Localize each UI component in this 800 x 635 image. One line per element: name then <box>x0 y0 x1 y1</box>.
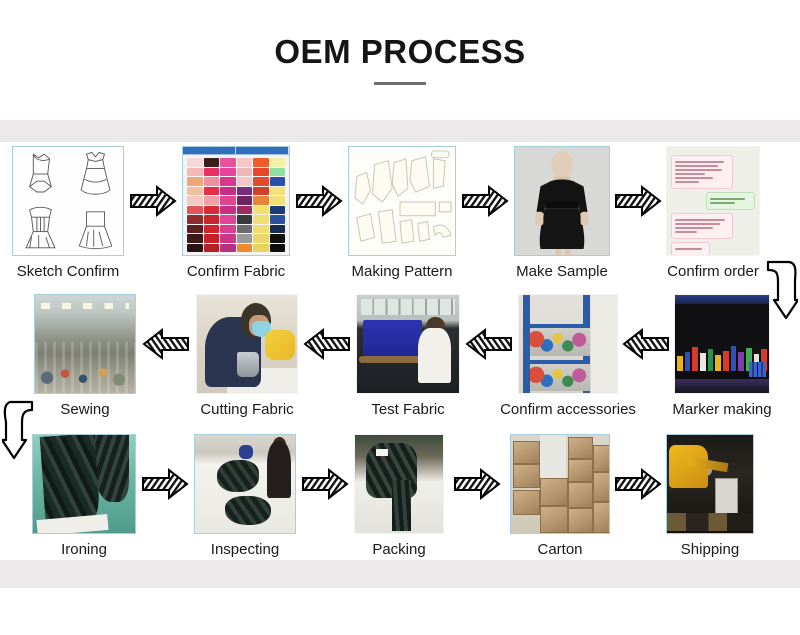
process-step-carton[interactable]: Carton <box>510 434 610 559</box>
fabric-swatch <box>204 206 220 215</box>
step-label: Packing <box>372 542 425 559</box>
make-sample-image <box>514 146 610 256</box>
ironing-photo <box>33 435 135 533</box>
fabric-swatch <box>220 187 236 196</box>
mannequin-dress-icon <box>515 147 609 255</box>
title-underline-rule <box>374 82 426 85</box>
fabric-swatch <box>220 225 236 234</box>
fabric-swatch <box>253 206 269 215</box>
process-step-ironing[interactable]: Ironing <box>32 434 136 559</box>
cutting-fabric-image <box>196 294 298 394</box>
fabric-swatch <box>253 187 269 196</box>
fabric-swatch <box>237 234 253 243</box>
fabric-swatch <box>187 234 203 243</box>
fabric-swatch <box>187 206 203 215</box>
step-label: Shipping <box>681 542 739 559</box>
fabric-swatch <box>187 244 203 253</box>
process-diagram: Sketch Confirm Confirm Fabric <box>0 142 800 560</box>
fabric-swatch <box>220 168 236 177</box>
shipping-image <box>666 434 754 534</box>
marker-piece <box>731 346 737 371</box>
chat-bubble <box>671 155 733 189</box>
fabric-swatch <box>270 215 286 224</box>
fabric-swatch <box>253 158 269 167</box>
step-label: Confirm order <box>667 264 759 281</box>
making-pattern-image <box>348 146 456 256</box>
process-step-sewing[interactable]: Sewing <box>34 294 136 419</box>
fabric-swatch <box>270 206 286 215</box>
process-step-marker-making[interactable]: Marker making <box>674 294 770 419</box>
fabric-swatch <box>237 225 253 234</box>
packing-photo <box>355 435 443 533</box>
process-step-confirm-fabric[interactable]: Confirm Fabric <box>182 146 290 281</box>
marker-piece <box>692 347 698 371</box>
marker-piece <box>723 351 729 372</box>
fabric-swatch <box>204 158 220 167</box>
arrow-left-hatched-2 <box>298 294 356 394</box>
marker-cad-screen-photo <box>675 295 769 393</box>
marker-piece <box>677 356 683 371</box>
sketch-confirm-image <box>12 146 124 256</box>
page-header: OEM PROCESS <box>0 0 800 120</box>
sewing-image <box>34 294 136 394</box>
step-label: Confirm accessories <box>500 402 636 419</box>
fabric-swatch <box>187 177 203 186</box>
arrow-right-hatched-7 <box>444 434 510 534</box>
page-title: OEM PROCESS <box>274 35 525 68</box>
fabric-swatch <box>220 158 236 167</box>
fabric-panel-header <box>183 147 289 155</box>
fabric-swatch <box>220 244 236 253</box>
divider-band-top <box>0 120 800 142</box>
process-row-3: Ironing Inspecting <box>0 432 800 572</box>
fabric-swatch <box>253 215 269 224</box>
inspecting-image <box>194 434 296 534</box>
process-step-confirm-accessories[interactable]: Confirm accessories <box>518 294 618 419</box>
fabric-swatch <box>187 158 203 167</box>
process-row-2: Sewing Cutting Fabric <box>0 292 800 432</box>
fabric-swatch <box>220 206 236 215</box>
fabric-swatch <box>220 177 236 186</box>
fabric-swatch <box>253 225 269 234</box>
dress-sketch-top-left-icon <box>13 147 68 201</box>
fabric-swatch <box>270 196 286 205</box>
confirm-order-image <box>666 146 760 256</box>
fabric-swatch <box>204 225 220 234</box>
shipping-forklift-photo <box>667 435 753 533</box>
dress-sketch-top-right-icon <box>68 147 123 201</box>
arrow-right-hatched-icon <box>129 184 177 218</box>
pattern-pieces-icon <box>349 147 455 255</box>
fabric-swatch <box>237 206 253 215</box>
fabric-swatch <box>237 158 253 167</box>
fabric-swatch <box>253 168 269 177</box>
process-step-cutting-fabric[interactable]: Cutting Fabric <box>196 294 298 419</box>
arrow-right-hatched-8 <box>610 434 666 534</box>
process-step-inspecting[interactable]: Inspecting <box>194 434 296 559</box>
arrow-right-hatched-1 <box>124 146 182 256</box>
arrow-left-hatched-4 <box>618 294 674 394</box>
arrow-right-hatched-4 <box>610 146 666 256</box>
fabric-swatch <box>220 196 236 205</box>
carton-warehouse-photo <box>511 435 609 533</box>
fabric-swatch <box>270 225 286 234</box>
arrow-right-hatched-icon <box>461 184 509 218</box>
process-step-making-pattern[interactable]: Making Pattern <box>348 146 456 281</box>
step-label: Sewing <box>60 402 109 419</box>
step-label: Making Pattern <box>352 264 453 281</box>
arrow-right-hatched-2 <box>290 146 348 256</box>
marker-making-image <box>674 294 770 394</box>
fabric-swatch <box>187 196 203 205</box>
carton-image <box>510 434 610 534</box>
fabric-swatch <box>187 168 203 177</box>
ironing-image <box>32 434 136 534</box>
arrow-left-hatched-icon <box>622 327 670 361</box>
step-label: Carton <box>537 542 582 559</box>
arrow-right-hatched-5 <box>136 434 194 534</box>
fabric-swatch <box>253 234 269 243</box>
fabric-swatch <box>253 177 269 186</box>
step-label: Ironing <box>61 542 107 559</box>
fabric-swatch <box>187 225 203 234</box>
arrow-right-hatched-icon <box>141 467 189 501</box>
inspecting-photo <box>195 435 295 533</box>
fabric-swatch <box>270 168 286 177</box>
fabric-swatch <box>237 177 253 186</box>
fabric-swatch <box>237 244 253 253</box>
step-label: Test Fabric <box>371 402 444 419</box>
arrow-right-hatched-icon <box>301 467 349 501</box>
chat-bubble <box>671 242 710 256</box>
arrow-right-hatched-icon <box>453 467 501 501</box>
cutting-fabric-photo <box>197 295 297 393</box>
fabric-swatch-grid <box>183 155 289 255</box>
test-fabric-photo <box>357 295 459 393</box>
fabric-swatch <box>237 187 253 196</box>
test-fabric-image <box>356 294 460 394</box>
arrow-left-hatched-icon <box>303 327 351 361</box>
process-step-test-fabric[interactable]: Test Fabric <box>356 294 460 419</box>
fabric-swatch <box>270 177 286 186</box>
arrow-right-hatched-icon <box>614 467 662 501</box>
step-label: Marker making <box>672 402 771 419</box>
fabric-swatch <box>237 196 253 205</box>
process-row-1: Sketch Confirm Confirm Fabric <box>0 142 800 292</box>
fabric-swatch <box>204 177 220 186</box>
process-step-sketch-confirm[interactable]: Sketch Confirm <box>12 146 124 281</box>
arrow-right-hatched-3 <box>456 146 514 256</box>
arrow-left-hatched-icon <box>142 327 190 361</box>
confirm-accessories-image <box>518 294 618 394</box>
fabric-swatch <box>204 196 220 205</box>
fabric-swatch <box>237 168 253 177</box>
marker-piece <box>685 352 691 372</box>
fabric-swatch <box>270 234 286 243</box>
arrow-left-hatched-1 <box>136 294 196 394</box>
fabric-swatch <box>270 158 286 167</box>
arrow-right-hatched-icon <box>614 184 662 218</box>
confirm-fabric-image <box>182 146 290 256</box>
marker-piece <box>708 349 714 371</box>
fabric-swatch <box>253 196 269 205</box>
packing-image <box>354 434 444 534</box>
fabric-swatch <box>187 187 203 196</box>
arrow-left-hatched-3 <box>460 294 518 394</box>
marker-piece <box>715 355 721 372</box>
process-step-confirm-order[interactable]: Confirm order <box>666 146 760 281</box>
step-label: Inspecting <box>211 542 279 559</box>
sewing-factory-photo <box>35 295 135 393</box>
fabric-swatch <box>204 215 220 224</box>
fabric-swatch <box>204 244 220 253</box>
step-label: Cutting Fabric <box>200 402 293 419</box>
fabric-swatch <box>204 168 220 177</box>
step-label: Confirm Fabric <box>187 264 285 281</box>
arrow-right-hatched-6 <box>296 434 354 534</box>
step-label: Sketch Confirm <box>17 264 120 281</box>
fabric-swatch <box>237 215 253 224</box>
marker-piece <box>738 352 744 371</box>
accessories-shelf-photo <box>519 295 617 393</box>
dress-sketch-bottom-left-icon <box>13 201 68 255</box>
process-step-packing[interactable]: Packing <box>354 434 444 559</box>
arrow-left-hatched-icon <box>465 327 513 361</box>
marker-piece <box>700 353 706 371</box>
chat-bubble <box>706 192 755 210</box>
process-step-shipping[interactable]: Shipping <box>666 434 754 559</box>
fabric-swatch <box>270 187 286 196</box>
fabric-swatch <box>270 244 286 253</box>
fabric-swatch <box>253 244 269 253</box>
fabric-swatch <box>187 215 203 224</box>
chat-bubble <box>671 213 733 239</box>
fabric-swatch <box>220 234 236 243</box>
arrow-right-hatched-icon <box>295 184 343 218</box>
fabric-swatch <box>204 234 220 243</box>
fabric-swatch <box>220 215 236 224</box>
step-label: Make Sample <box>516 264 608 281</box>
fabric-swatch <box>204 187 220 196</box>
dress-sketch-bottom-right-icon <box>68 201 123 255</box>
process-step-make-sample[interactable]: Make Sample <box>514 146 610 281</box>
